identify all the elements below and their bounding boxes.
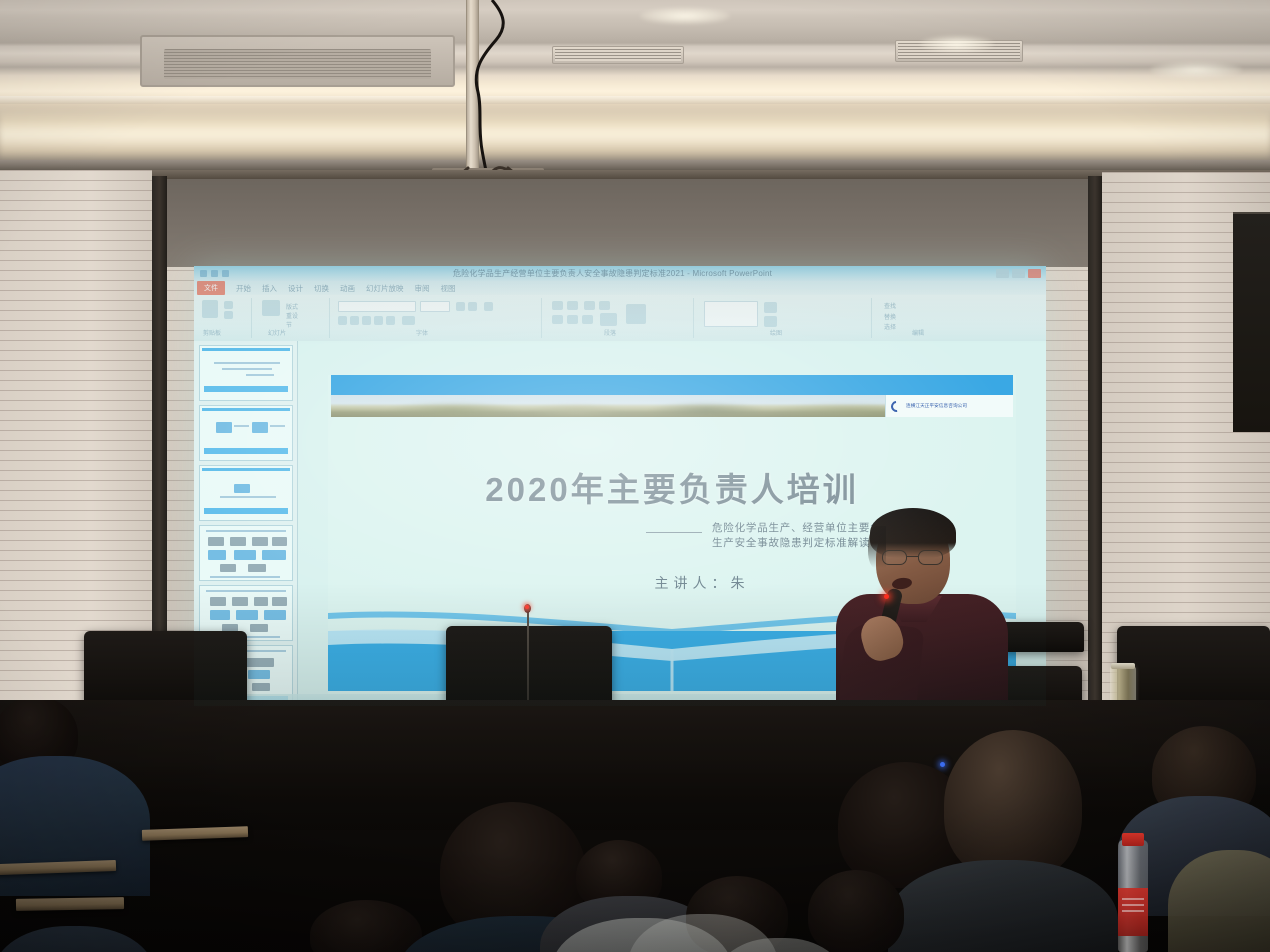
new-slide-icon[interactable]: [262, 300, 280, 316]
water-bottle-cap: [1122, 833, 1144, 846]
paste-icon[interactable]: [202, 300, 218, 318]
shadow-icon[interactable]: [374, 316, 383, 325]
thumb-shape: [234, 484, 250, 493]
audience-member-shoulders: [0, 756, 150, 896]
conference-chair: [84, 631, 247, 709]
thumb-text-line: [222, 368, 272, 370]
slide-title: 2020年主要负责人培训: [328, 463, 1016, 511]
tab-insert[interactable]: 插入: [262, 283, 277, 294]
powerpoint-title-bar: 危险化学品生产经营单位主要负责人安全事故隐患判定标准2021 - Microso…: [194, 266, 1046, 281]
thumb-shape: [208, 550, 226, 560]
thumb-shape: [248, 670, 270, 679]
layout-label: 版式: [286, 302, 298, 311]
thumb-shape: [244, 658, 274, 667]
tab-animations[interactable]: 动画: [340, 283, 355, 294]
thumb-shape: [252, 683, 270, 691]
tab-home[interactable]: 开始: [236, 283, 251, 294]
group-label-clipboard: 剪贴板: [203, 328, 221, 337]
thumb-shape: [272, 537, 287, 546]
slide-thumbnail[interactable]: [199, 345, 293, 401]
ribbon-toolbar[interactable]: 剪贴板 版式 重设 节 幻灯片 字体: [194, 295, 1046, 341]
thumb-shape: [248, 564, 266, 572]
recessed-downlight: [1150, 62, 1242, 78]
thumb-shape: [234, 550, 256, 560]
tab-slideshow[interactable]: 幻灯片放映: [366, 283, 404, 294]
ceiling-air-vent: [552, 46, 684, 64]
handheld-microphone-led: [884, 594, 889, 599]
find-label: 查找: [884, 301, 896, 310]
thumb-shape: [236, 610, 258, 620]
logo-text: 连横江天正平安信息咨询公司: [906, 403, 967, 408]
thumb-text-line: [214, 362, 280, 364]
save-icon[interactable]: [200, 270, 207, 277]
projector-power-cable: [452, 0, 510, 176]
thumb-text-line: [234, 425, 249, 427]
recessed-downlight: [920, 36, 994, 52]
replace-label: 替换: [884, 312, 896, 321]
wall-top-trim: [0, 170, 1270, 179]
reset-label: 重设: [286, 311, 298, 320]
thumb-text-line: [206, 530, 286, 532]
tab-view[interactable]: 视图: [441, 283, 456, 294]
thumb-accent-bar: [204, 448, 288, 454]
eyeglass-bridge: [907, 556, 918, 557]
screen-recess-upper-wall: [167, 179, 1088, 267]
tablet-arm-desk: [16, 897, 124, 911]
copy-icon[interactable]: [224, 311, 233, 319]
subtitle-dash: [646, 532, 702, 533]
thumb-text-line: [246, 374, 274, 376]
tab-transitions[interactable]: 切换: [314, 283, 329, 294]
thumb-shape: [210, 610, 230, 620]
shape-outline-icon[interactable]: [764, 316, 777, 327]
thumb-text-line: [210, 576, 280, 578]
section-label: 节: [286, 320, 292, 329]
water-bottle-label: [1118, 888, 1148, 936]
font-color-icon[interactable]: [402, 316, 415, 325]
window-title: 危险化学品生产经营单位主要负责人安全事故隐患判定标准2021 - Microso…: [229, 268, 996, 279]
screen-frame-edge: [152, 176, 167, 704]
ribbon-group-editing[interactable]: 查找 替换 选择 编辑: [876, 298, 996, 338]
thumb-shape: [250, 624, 268, 632]
eyeglass-lens-right: [918, 550, 943, 565]
slide-thumbnail[interactable]: [199, 405, 293, 461]
thumb-header-bar: [202, 348, 290, 351]
quick-access-toolbar[interactable]: [194, 270, 229, 277]
restore-icon[interactable]: [1012, 269, 1025, 278]
crescent-logo-icon: [889, 398, 904, 413]
shape-gallery[interactable]: [704, 301, 758, 327]
thumb-text-line: [206, 590, 286, 592]
group-label-font: 字体: [416, 328, 428, 337]
thumb-shape: [208, 537, 224, 546]
tab-file[interactable]: 文件: [197, 281, 225, 295]
dark-wall-panel: [1233, 212, 1270, 432]
redo-icon[interactable]: [222, 270, 229, 277]
thumb-header-bar: [202, 408, 290, 411]
gooseneck-microphone: [527, 612, 529, 708]
ceiling-cassette-air-conditioner: [140, 35, 455, 87]
company-logo: 连横江天正平安信息咨询公司: [885, 395, 1013, 417]
ribbon-tab-strip[interactable]: 文件 开始 插入 设计 切换 动画 幻灯片放映 审阅 视图: [194, 281, 1046, 295]
ribbon-group-paragraph[interactable]: 段落: [544, 298, 694, 338]
eyeglass-lens-left: [882, 550, 907, 565]
underline-icon[interactable]: [362, 316, 371, 325]
font-family-select[interactable]: [338, 301, 416, 312]
eyeglasses-icon: [878, 550, 950, 567]
thumb-shape: [220, 564, 236, 572]
bullets-icon[interactable]: [552, 301, 563, 310]
conference-chair: [446, 626, 612, 709]
group-label-drawing: 绘图: [770, 328, 782, 337]
ceiling: [0, 0, 1270, 172]
thumb-text-line: [220, 496, 276, 498]
group-label-editing: 编辑: [912, 328, 924, 337]
smartart-icon[interactable]: [626, 304, 646, 324]
thumb-shape: [254, 597, 268, 606]
italic-icon[interactable]: [350, 316, 359, 325]
clear-format-icon[interactable]: [484, 302, 493, 311]
align-right-icon[interactable]: [582, 315, 593, 324]
thumb-shape: [252, 537, 268, 546]
ribbon-group-slides[interactable]: 版式 重设 节 幻灯片: [254, 298, 330, 338]
thumb-shape: [262, 550, 286, 560]
align-center-icon[interactable]: [567, 315, 578, 324]
thumb-shape: [210, 597, 226, 606]
align-left-icon[interactable]: [552, 315, 563, 324]
ribbon-group-clipboard[interactable]: 剪贴板: [196, 298, 252, 338]
minimize-icon[interactable]: [996, 269, 1009, 278]
font-size-select[interactable]: [420, 301, 450, 312]
audience-member: [944, 730, 1082, 880]
columns-icon[interactable]: [600, 313, 617, 326]
strikethrough-icon[interactable]: [386, 316, 395, 325]
microphone-led: [525, 605, 529, 609]
audience-member: [808, 870, 904, 952]
thumb-shape: [252, 422, 268, 433]
cove-light-strip: [0, 108, 1270, 160]
group-label-slides: 幻灯片: [268, 328, 286, 337]
recessed-downlight: [640, 8, 730, 24]
thumb-shape: [230, 537, 246, 546]
group-label-paragraph: 段落: [604, 328, 616, 337]
thumb-header-bar: [202, 468, 290, 471]
thumb-shape: [272, 597, 287, 606]
slide-thumbnail[interactable]: [199, 525, 293, 581]
thumb-text-line: [270, 425, 285, 427]
thumb-shape: [216, 422, 232, 433]
slide-thumbnail[interactable]: [199, 465, 293, 521]
tab-review[interactable]: 审阅: [415, 283, 430, 294]
equipment-status-led: [940, 762, 945, 767]
decrease-font-icon[interactable]: [468, 302, 477, 311]
thumb-accent-bar: [204, 508, 288, 514]
increase-font-icon[interactable]: [456, 302, 465, 311]
audience-area: [0, 700, 1270, 952]
conference-room-photo: 危险化学品生产经营单位主要负责人安全事故隐患判定标准2021 - Microso…: [0, 0, 1270, 952]
increase-indent-icon[interactable]: [599, 301, 610, 310]
undo-icon[interactable]: [211, 270, 218, 277]
thumb-shape: [232, 597, 248, 606]
ceiling-soffit: [0, 96, 1270, 104]
slide-header-bar: [331, 375, 1013, 395]
bold-icon[interactable]: [338, 316, 347, 325]
ribbon-group-drawing[interactable]: 绘图: [696, 298, 872, 338]
thumb-shape: [264, 610, 286, 620]
select-label: 选择: [884, 322, 896, 331]
conference-chair: [1117, 626, 1270, 710]
tab-design[interactable]: 设计: [288, 283, 303, 294]
shape-fill-icon[interactable]: [764, 302, 777, 313]
close-icon[interactable]: [1028, 269, 1041, 278]
screen-frame-edge: [1088, 176, 1102, 704]
numbering-icon[interactable]: [567, 301, 578, 310]
decrease-indent-icon[interactable]: [584, 301, 595, 310]
ribbon-group-font[interactable]: 字体: [332, 298, 542, 338]
cut-icon[interactable]: [224, 301, 233, 309]
presenter: [826, 512, 1014, 712]
thumb-accent-bar: [204, 386, 288, 392]
window-controls[interactable]: [996, 269, 1046, 278]
